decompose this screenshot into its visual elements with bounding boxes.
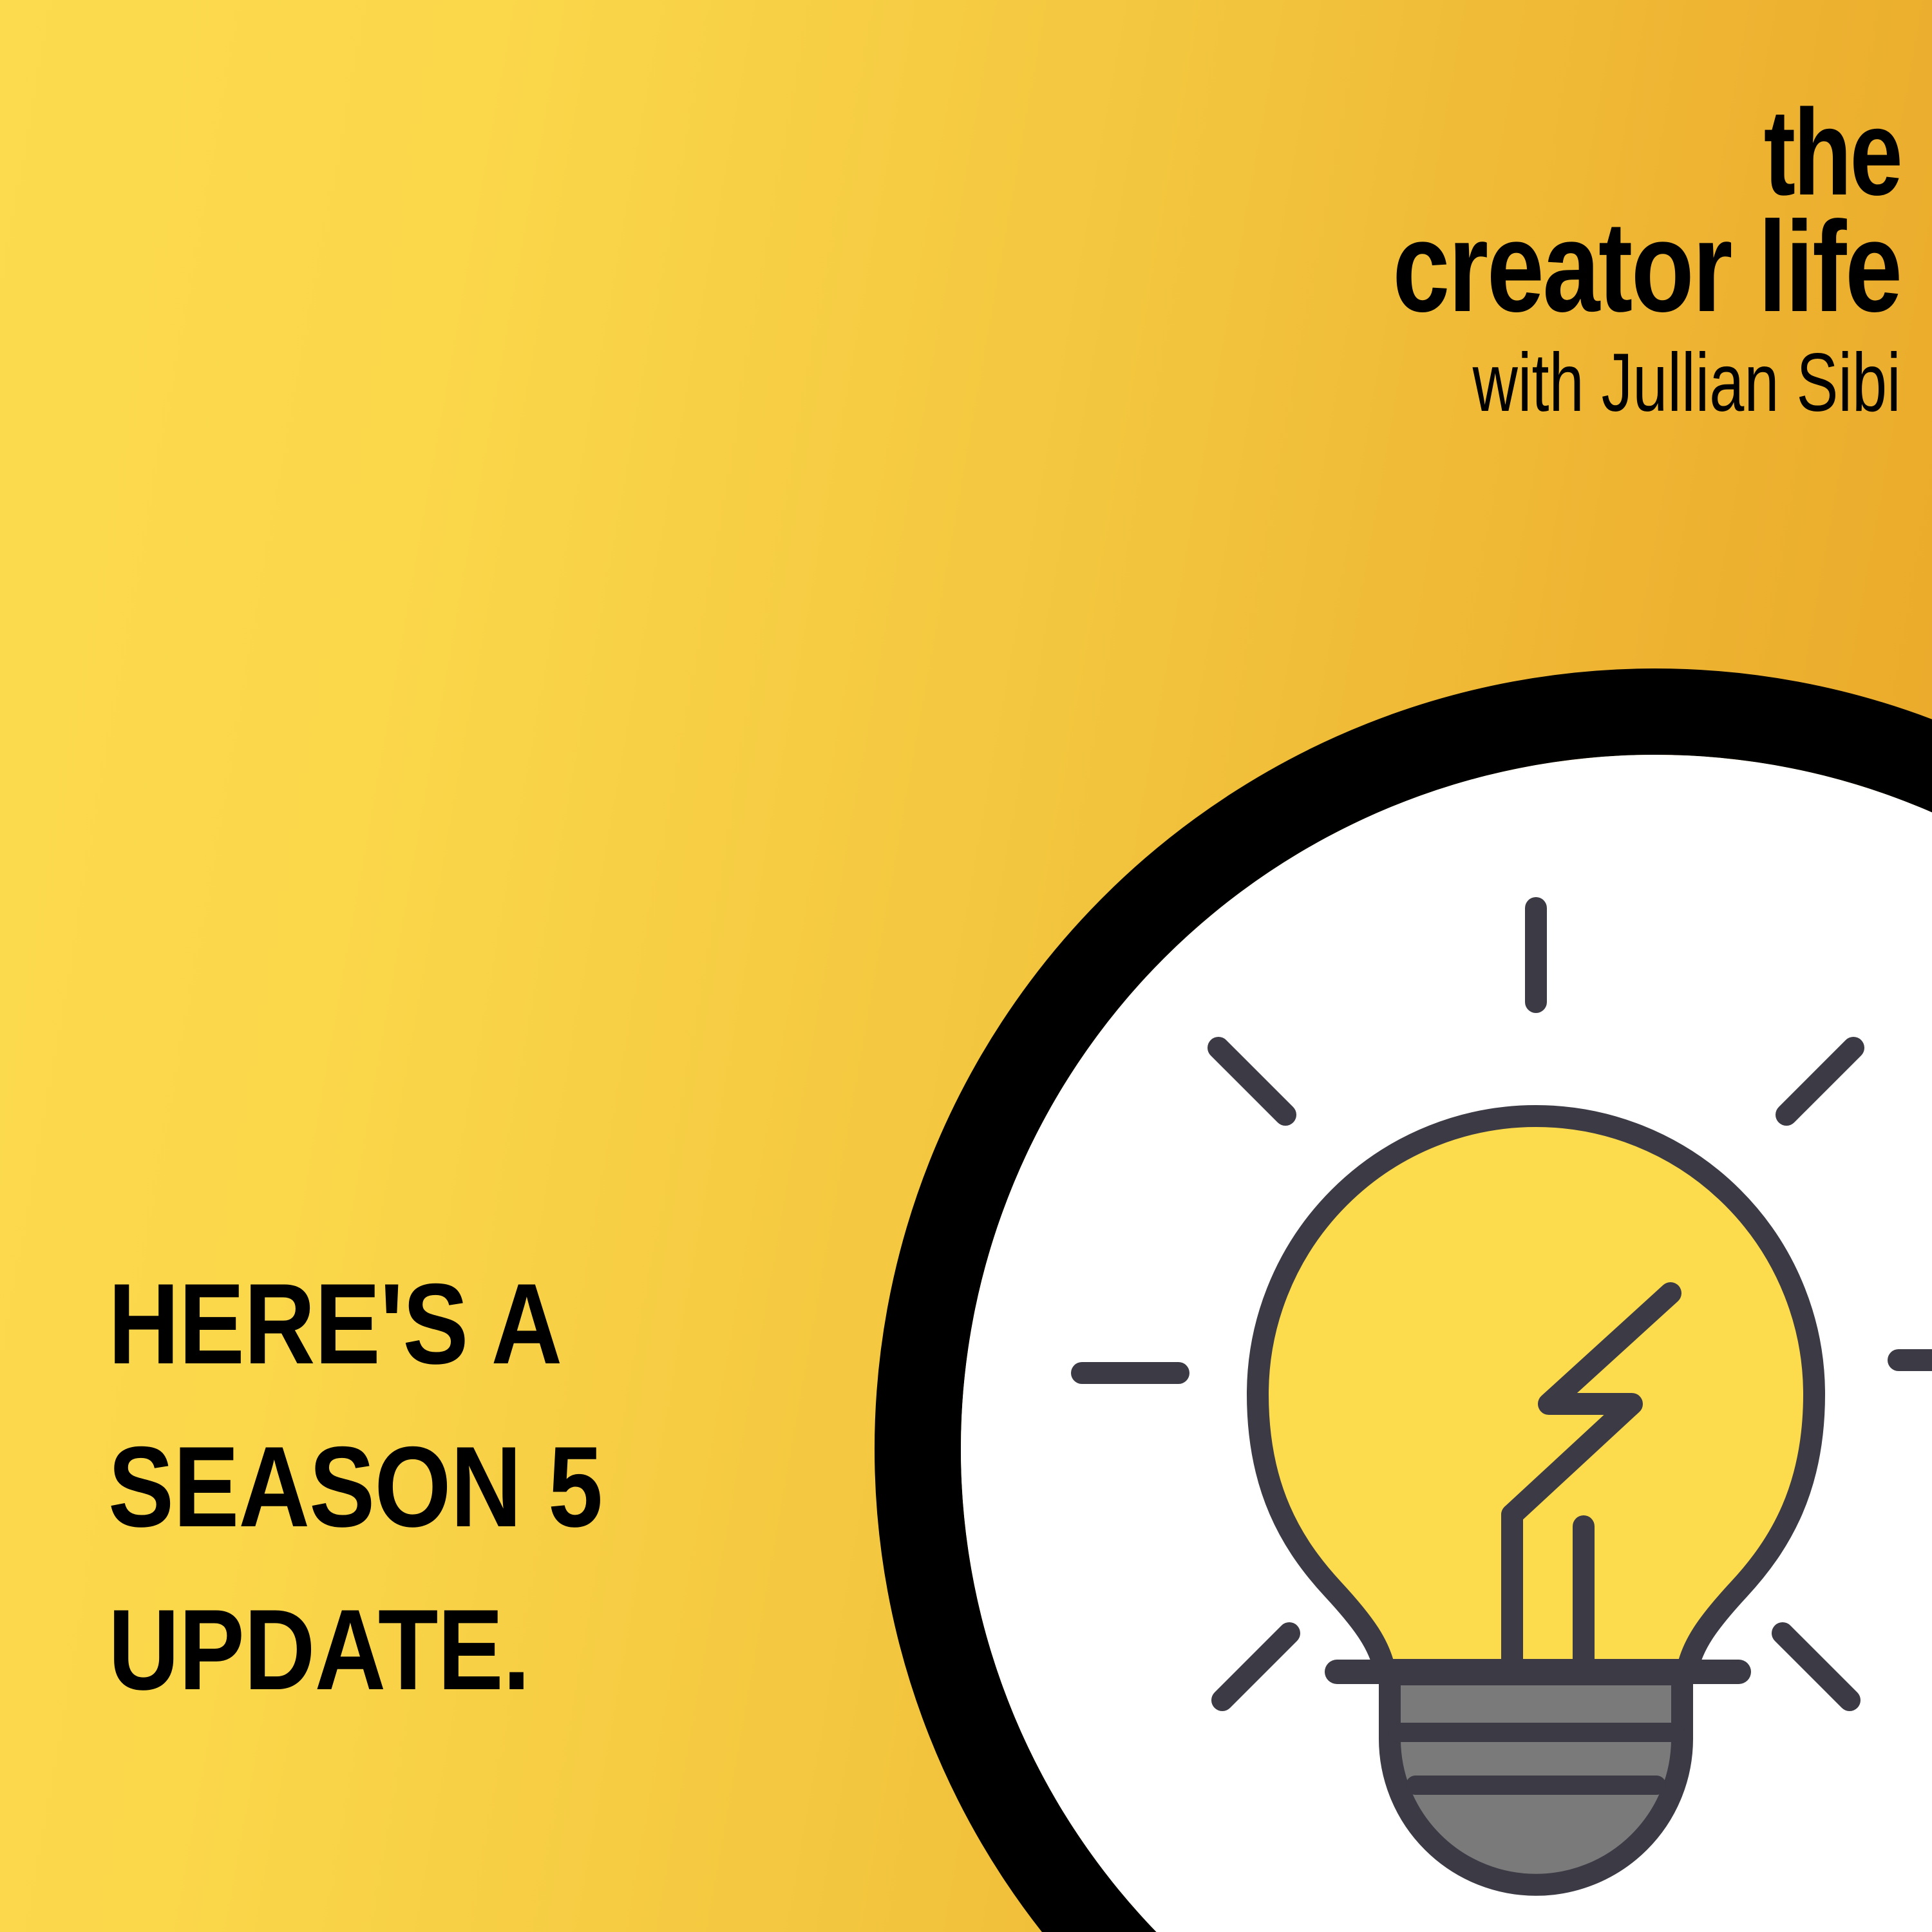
ray-lower-right-icon: [1783, 1633, 1850, 1700]
brand-lockup: the creator life with Jullian Sibi: [1265, 97, 1901, 430]
lightbulb-base-icon: [1390, 1674, 1682, 1885]
podcast-cover-art: the creator life with Jullian Sibi HERE'…: [0, 0, 1932, 1932]
episode-headline: HERE'S A SEASON 5 UPDATE.: [108, 1243, 602, 1731]
brand-line-title: creator life: [1393, 203, 1901, 332]
ray-upper-left-icon: [1218, 1048, 1285, 1115]
brand-line-the: the: [1405, 97, 1901, 209]
ray-upper-right-icon: [1786, 1048, 1853, 1115]
badge-disc: [961, 755, 1932, 1932]
lightbulb-glass-icon: [1258, 1116, 1814, 1670]
ray-lower-left-icon: [1222, 1633, 1289, 1700]
badge-ring: [918, 712, 1932, 1932]
filament-bolt-icon: [1512, 1293, 1671, 1515]
brand-line-host: with Jullian Sibi: [1418, 336, 1901, 430]
